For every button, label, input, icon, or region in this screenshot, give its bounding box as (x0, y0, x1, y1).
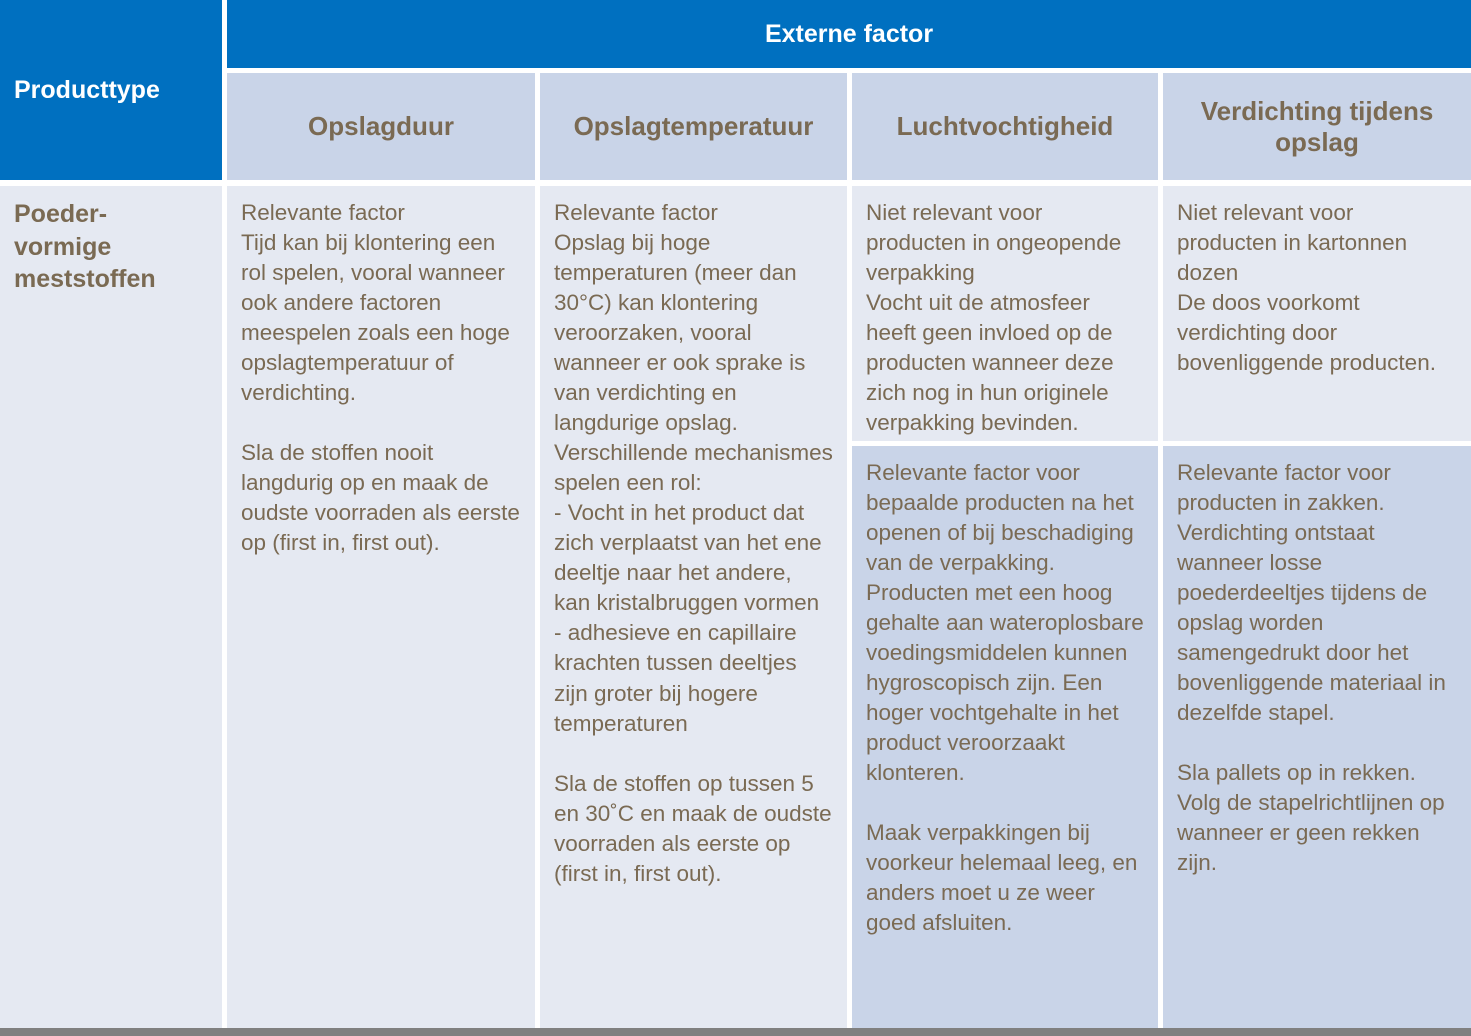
column-header-opslagtemperatuur: Opslagtemperatuur (540, 73, 847, 180)
column-header-opslagduur: Opslagduur (227, 73, 535, 180)
column-header-verdichting-tijdens-opslag: Verdichting tijdens opslag (1163, 73, 1471, 180)
cell-opslagtemperatuur: Relevante factor Opslag bij hoge tempera… (540, 186, 847, 1028)
column-header-luchtvochtigheid: Luchtvochtigheid (852, 73, 1158, 180)
row-label-poedervormige-meststoffen: Poeder- vormige meststoffen (0, 186, 222, 1028)
cell-opslagduur: Relevante factor Tijd kan bij klontering… (227, 186, 535, 1028)
cell-verdichting-relevant: Relevante factor voor producten in zakke… (1163, 446, 1471, 1028)
corner-header-producttype: Producttype (0, 0, 222, 180)
group-header-externe-factor: Externe factor (227, 0, 1471, 68)
cell-luchtvochtigheid-niet-relevant: Niet relevant voor producten in ongeopen… (852, 186, 1158, 441)
cell-verdichting-niet-relevant: Niet relevant voor producten in kartonne… (1163, 186, 1471, 441)
bottom-divider (0, 1028, 1471, 1036)
table-container: Producttype Externe factor Opslagduur Op… (0, 0, 1471, 1036)
cell-luchtvochtigheid-relevant: Relevante factor voor bepaalde producten… (852, 446, 1158, 1028)
